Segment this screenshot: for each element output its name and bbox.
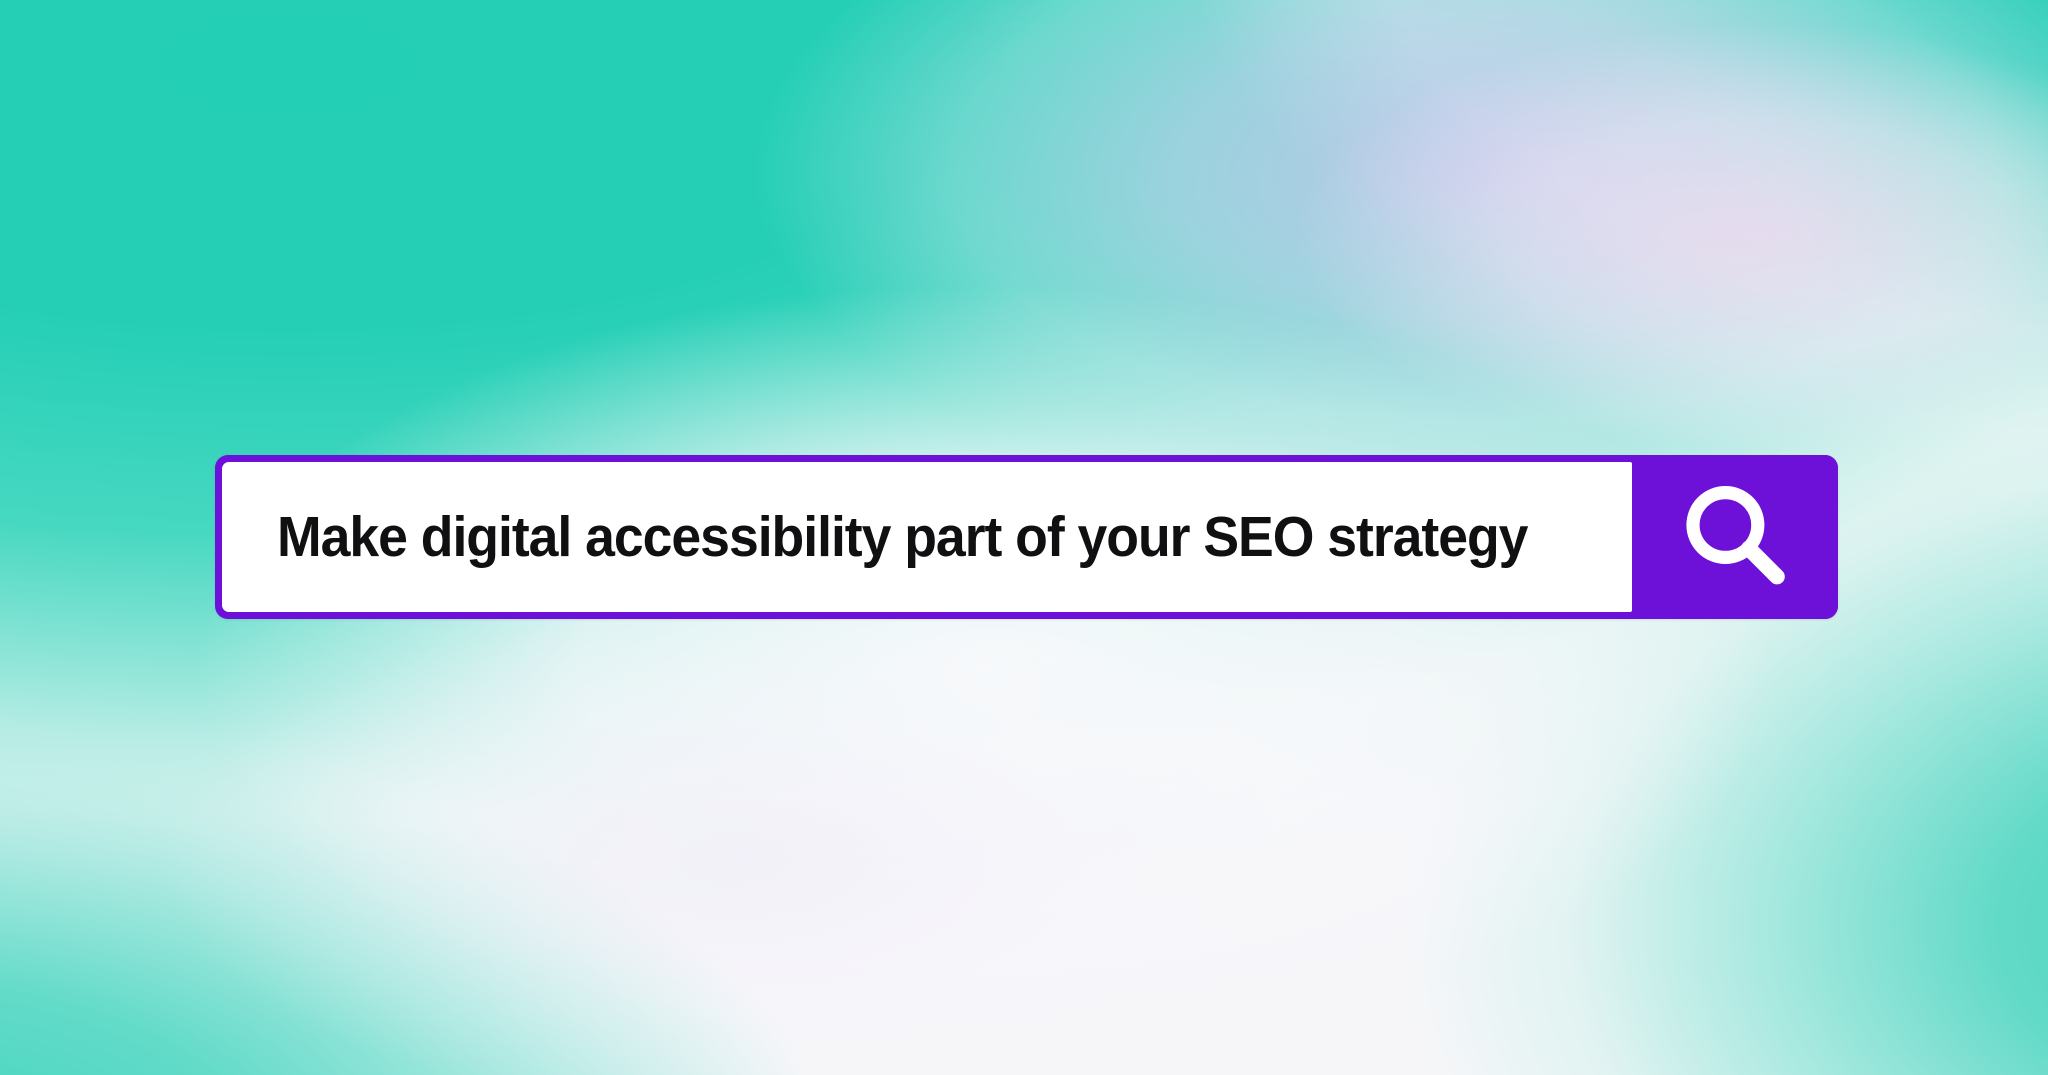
search-submit-button[interactable] <box>1632 455 1838 619</box>
search-input[interactable]: Make digital accessibility part of your … <box>222 462 1632 612</box>
search-input-value: Make digital accessibility part of your … <box>277 509 1527 566</box>
banner-canvas: Make digital accessibility part of your … <box>0 0 2048 1075</box>
search-bar[interactable]: Make digital accessibility part of your … <box>215 455 1838 619</box>
search-icon <box>1675 477 1795 597</box>
